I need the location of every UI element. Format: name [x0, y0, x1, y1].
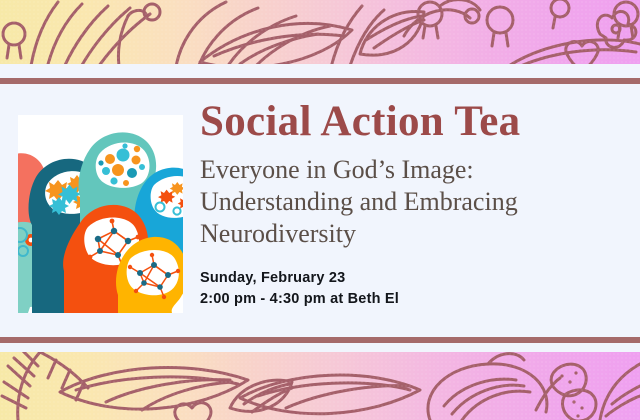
top-gap-upper — [0, 64, 640, 78]
page-title: Social Action Tea — [200, 98, 628, 146]
event-details: Sunday, February 23 2:00 pm - 4:30 pm at… — [200, 268, 628, 310]
neurodiversity-heads-illustration — [18, 115, 183, 313]
bottom-gap-upper — [0, 323, 640, 337]
subtitle-line-1: Everyone in God’s Image: — [200, 155, 474, 184]
flyer-subtitle: Everyone in God’s Image: Understanding a… — [200, 154, 628, 250]
event-date: Sunday, February 23 — [200, 268, 628, 289]
flyer-canvas: Social Action Tea Everyone in God’s Imag… — [0, 0, 640, 420]
flyer-text-block: Social Action Tea Everyone in God’s Imag… — [200, 98, 628, 310]
subtitle-line-3: Neurodiversity — [200, 219, 356, 248]
bottom-gap-lower — [0, 343, 640, 352]
event-time-location: 2:00 pm - 4:30 pm at Beth El — [200, 289, 628, 310]
top-floral-border — [0, 0, 640, 64]
subtitle-line-2: Understanding and Embracing — [200, 187, 518, 216]
bottom-floral-border — [0, 352, 640, 420]
